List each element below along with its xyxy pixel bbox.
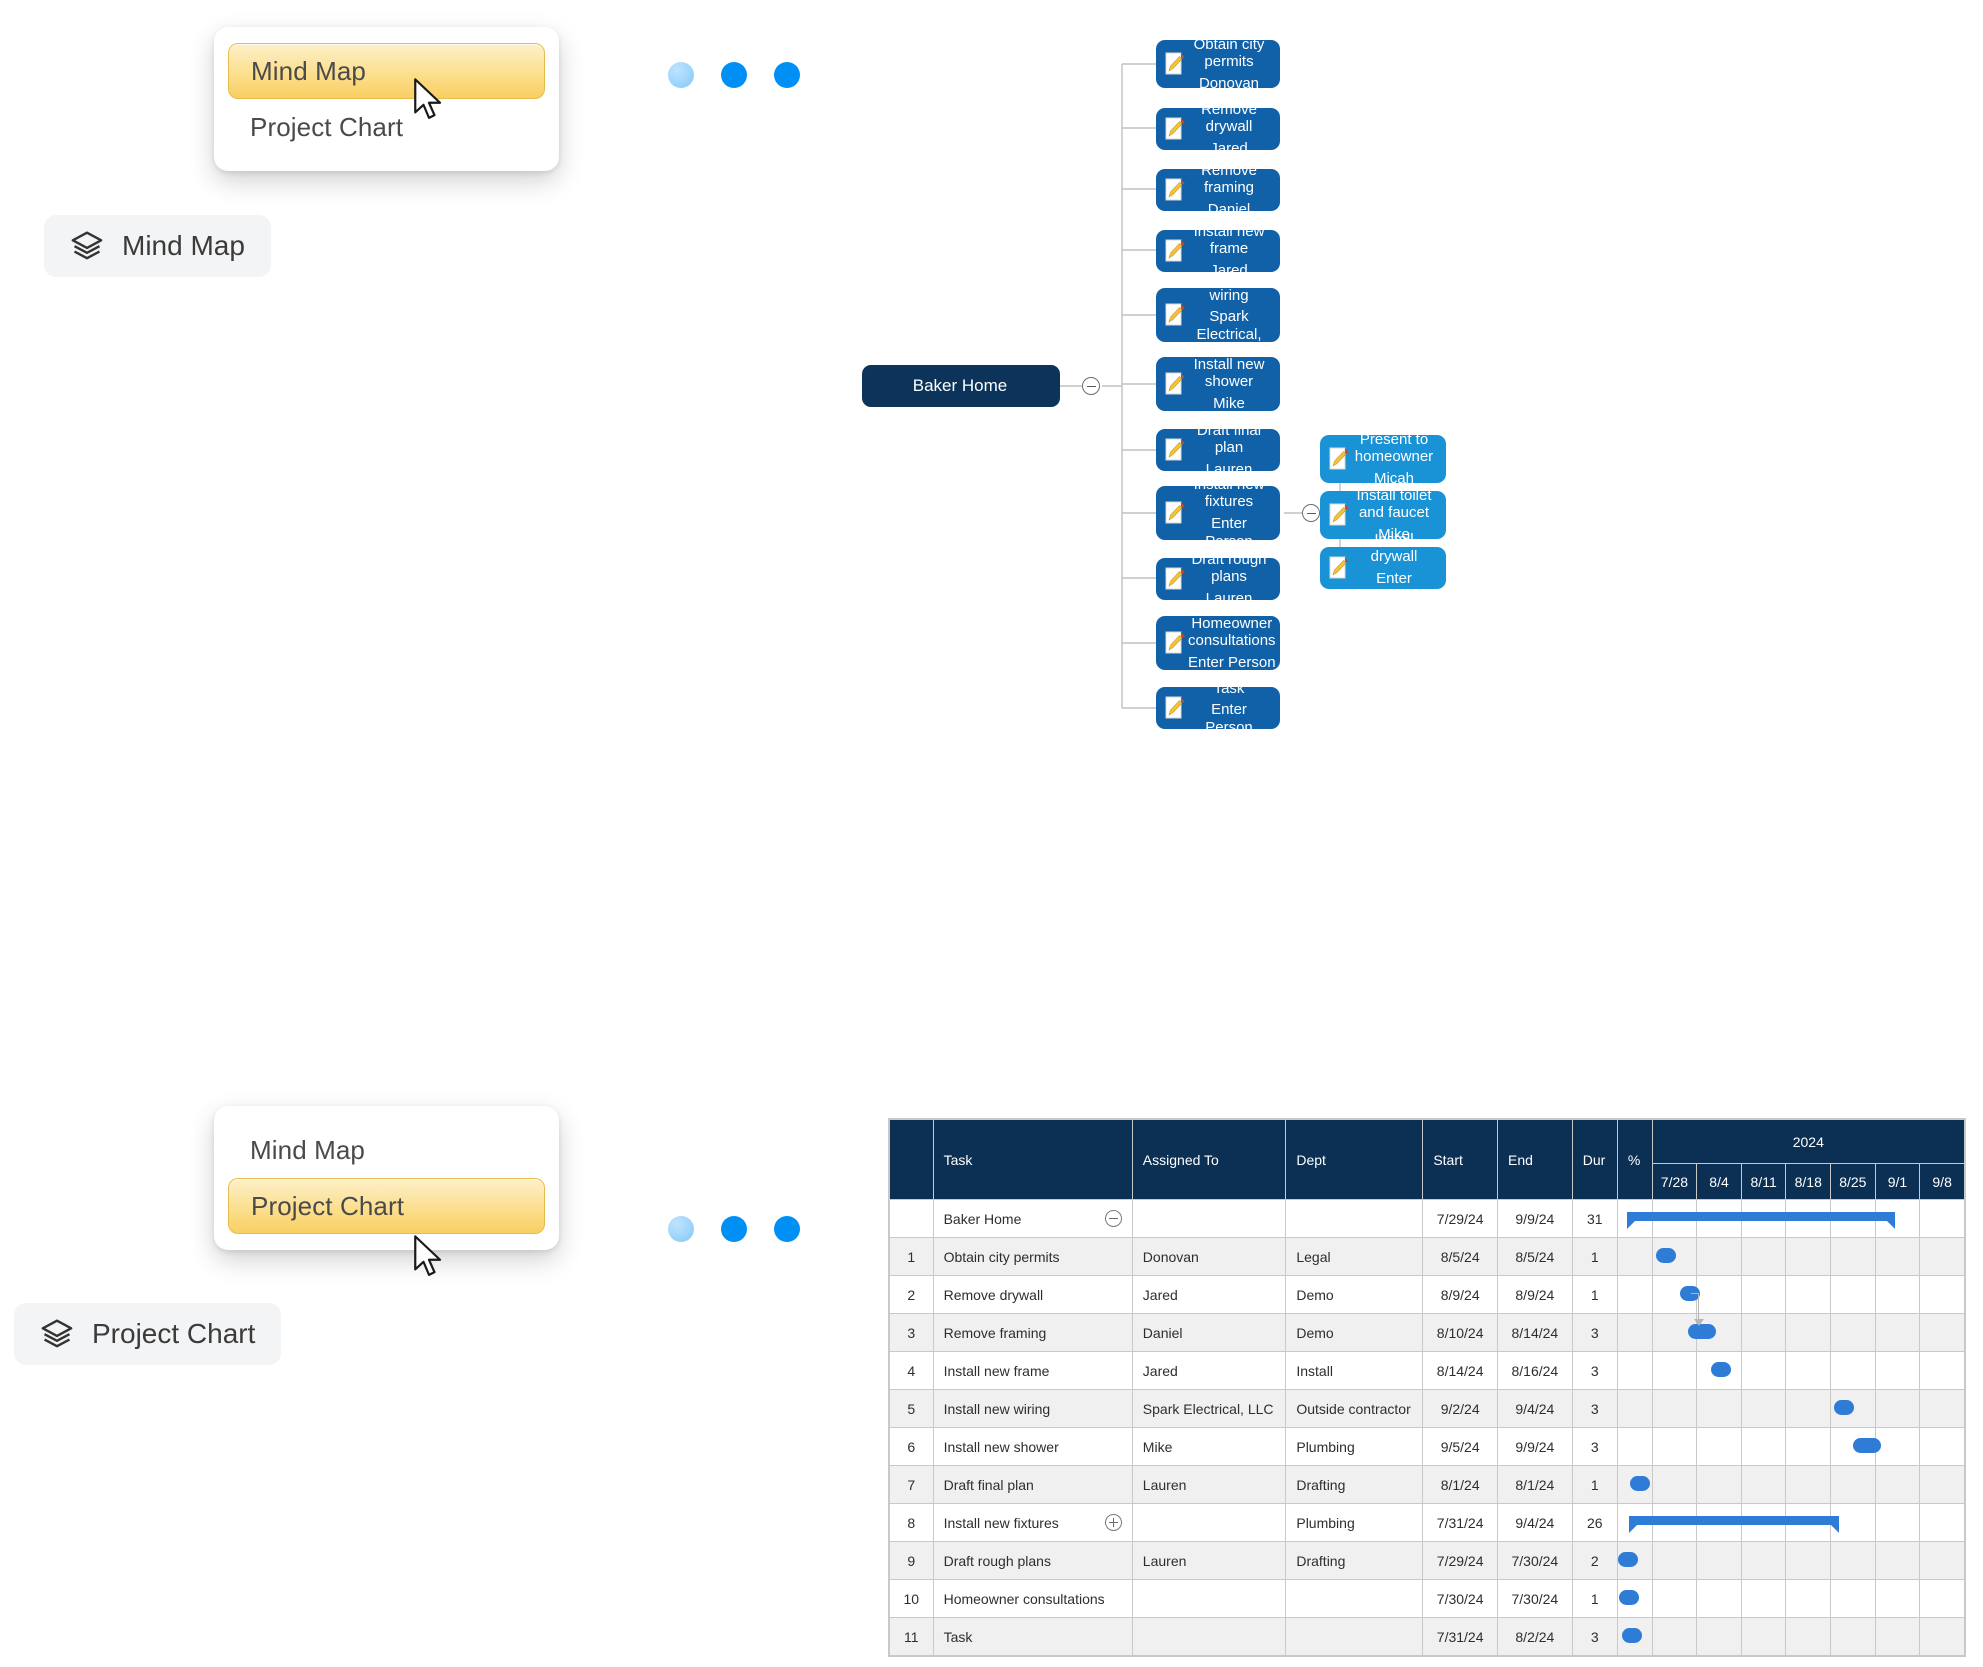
th-start[interactable]: Start — [1423, 1120, 1498, 1200]
cell-dur[interactable]: 3 — [1572, 1618, 1617, 1656]
task-label: Obtain city permits — [944, 1249, 1060, 1265]
cell-start[interactable]: 8/5/24 — [1423, 1238, 1498, 1276]
dropdown-option-project-chart[interactable]: Project Chart — [228, 99, 545, 155]
cell-task[interactable]: Install new shower — [933, 1428, 1132, 1466]
cell-start[interactable]: 9/5/24 — [1423, 1428, 1498, 1466]
note-pencil-icon — [1164, 631, 1186, 655]
dependency-line — [1698, 1293, 1699, 1321]
mindmap-node-person: Lauren — [1188, 590, 1270, 608]
cell-dept[interactable]: Install — [1286, 1352, 1423, 1390]
mindmap-node-title: Present to homeowner — [1352, 431, 1436, 466]
cell-dept[interactable]: Demo — [1286, 1314, 1423, 1352]
cell-end[interactable]: 9/9/24 — [1498, 1200, 1573, 1238]
cell-row-number: 11 — [890, 1618, 934, 1656]
th-assigned-to[interactable]: Assigned To — [1132, 1120, 1286, 1200]
cell-dept[interactable]: Drafting — [1286, 1542, 1423, 1580]
mindmap-node-title: Install new shower — [1188, 356, 1270, 391]
mindmap-node-homeowner-consultations[interactable]: Homeowner consultations Enter Person — [1156, 616, 1280, 670]
table-header-year-row: Task Assigned To Dept Start End Dur % 20… — [890, 1120, 1965, 1164]
mindmap-node-install-new-frame[interactable]: Install new frame Jared — [1156, 230, 1280, 272]
cell-assigned-to[interactable] — [1132, 1504, 1286, 1542]
mindmap-node-title: Install new wiring — [1188, 269, 1270, 304]
dropdown-option-mind-map[interactable]: Mind Map — [228, 1122, 545, 1178]
cell-dur[interactable]: 3 — [1572, 1428, 1617, 1466]
cell-task[interactable]: Baker Home — [933, 1200, 1132, 1238]
task-label: Install new fixtures — [944, 1515, 1059, 1531]
dot-1 — [668, 62, 694, 88]
note-pencil-icon — [1164, 438, 1186, 462]
cell-dur[interactable]: 1 — [1572, 1580, 1617, 1618]
gantt-task-bar[interactable] — [1619, 1590, 1639, 1605]
th-week-6: 9/8 — [1920, 1164, 1965, 1200]
cell-dept[interactable]: Demo — [1286, 1276, 1423, 1314]
mindmap-node-person: Enter Person — [1188, 654, 1276, 672]
cell-row-number: 3 — [890, 1314, 934, 1352]
mindmap-node-title: Install toilet and faucet — [1352, 487, 1436, 522]
th-week-3: 8/18 — [1786, 1164, 1831, 1200]
cell-start[interactable]: 8/9/24 — [1423, 1276, 1498, 1314]
task-label: Task — [944, 1629, 973, 1645]
mindmap-node-person: Mike — [1188, 395, 1270, 413]
task-label: Baker Home — [944, 1211, 1022, 1227]
cell-row-number: 5 — [890, 1390, 934, 1428]
mindmap-node-title: Remove framing — [1188, 162, 1270, 197]
cell-task[interactable]: Draft final plan — [933, 1466, 1132, 1504]
gantt-bars-layer — [1621, 1199, 1965, 1656]
cell-start[interactable]: 8/1/24 — [1423, 1466, 1498, 1504]
mindmap-node-obtain-city-permits[interactable]: Obtain city permits Donovan — [1156, 40, 1280, 88]
mouse-cursor-icon — [412, 78, 446, 122]
task-label: Draft final plan — [944, 1477, 1034, 1493]
cell-row-number: 9 — [890, 1542, 934, 1580]
cell-dur[interactable]: 1 — [1572, 1466, 1617, 1504]
th-week-4: 8/25 — [1831, 1164, 1876, 1200]
chart-type-dropdown-bottom[interactable]: Mind Map Project Chart — [214, 1106, 559, 1250]
cell-dur[interactable]: 1 — [1572, 1238, 1617, 1276]
task-label: Install new shower — [944, 1439, 1059, 1455]
mindmap-node-person: Enter Person — [1188, 701, 1270, 736]
cell-end[interactable]: 7/30/24 — [1498, 1542, 1573, 1580]
note-pencil-icon — [1164, 52, 1186, 76]
gantt-summary-bar[interactable] — [1629, 1516, 1840, 1525]
mindmap-node-title: Task — [1188, 680, 1270, 698]
mindmap-fixtures-collapse-toggle[interactable] — [1302, 504, 1320, 522]
cell-start[interactable]: 9/2/24 — [1423, 1390, 1498, 1428]
cell-task[interactable]: Draft rough plans — [933, 1542, 1132, 1580]
note-pencil-icon — [1328, 447, 1350, 471]
cell-start[interactable]: 8/10/24 — [1423, 1314, 1498, 1352]
mindmap-node-title: Draft rough plans — [1188, 551, 1270, 586]
cell-assigned-to[interactable]: Mike — [1132, 1428, 1286, 1466]
mindmap-node-draft-final-plan[interactable]: Draft final plan Lauren — [1156, 429, 1280, 471]
cell-end[interactable]: 9/4/24 — [1498, 1504, 1573, 1542]
cell-start[interactable]: 7/31/24 — [1423, 1618, 1498, 1656]
th-dept[interactable]: Dept — [1286, 1120, 1423, 1200]
mouse-cursor-icon — [412, 1235, 446, 1279]
mindmap-node-remove-drywall[interactable]: Remove drywall Jared — [1156, 108, 1280, 150]
cell-dept[interactable]: Plumbing — [1286, 1504, 1423, 1542]
cell-end[interactable]: 9/9/24 — [1498, 1428, 1573, 1466]
cell-row-number: 2 — [890, 1276, 934, 1314]
dropdown-option-label: Project Chart — [251, 1191, 404, 1222]
task-label: Remove framing — [944, 1325, 1047, 1341]
cell-row-number: 7 — [890, 1466, 934, 1504]
note-pencil-icon — [1164, 501, 1186, 525]
row-expand-toggle[interactable] — [1105, 1514, 1122, 1531]
cell-start[interactable]: 7/31/24 — [1423, 1504, 1498, 1542]
mindmap-root-label: Baker Home — [913, 376, 1007, 396]
note-pencil-icon — [1328, 503, 1350, 527]
th-week-2: 8/11 — [1741, 1164, 1786, 1200]
screenshot-canvas: Mind Map Project Chart Mind Map — [0, 0, 1983, 1667]
cell-assigned-to[interactable]: Spark Electrical, LLC — [1132, 1390, 1286, 1428]
th-task[interactable]: Task — [933, 1120, 1132, 1200]
cell-assigned-to[interactable]: Jared — [1132, 1352, 1286, 1390]
dot-2 — [721, 1216, 747, 1242]
mindmap-node-title: Homeowner consultations — [1188, 615, 1276, 650]
mindmap-node-present-to-homeowner[interactable]: Present to homeowner Micah — [1320, 435, 1446, 483]
cell-end[interactable]: 8/9/24 — [1498, 1276, 1573, 1314]
th-week-0: 7/28 — [1652, 1164, 1697, 1200]
cell-dur[interactable]: 2 — [1572, 1542, 1617, 1580]
cell-assigned-to[interactable] — [1132, 1618, 1286, 1656]
note-pencil-icon — [1164, 372, 1186, 396]
chip-project-chart[interactable]: Project Chart — [14, 1303, 281, 1365]
cell-end[interactable]: 8/2/24 — [1498, 1618, 1573, 1656]
mindmap-node-title: Install drywall — [1352, 531, 1436, 566]
cell-dept[interactable] — [1286, 1580, 1423, 1618]
chart-type-dropdown-top[interactable]: Mind Map Project Chart — [214, 27, 559, 171]
cell-dur[interactable]: 26 — [1572, 1504, 1617, 1542]
th-week-5: 9/1 — [1875, 1164, 1920, 1200]
dropdown-option-label: Project Chart — [250, 112, 403, 143]
row-collapse-toggle[interactable] — [1105, 1210, 1122, 1227]
cell-assigned-to[interactable] — [1132, 1200, 1286, 1238]
gantt-task-bar[interactable] — [1853, 1438, 1881, 1453]
mindmap-node-title: Install new frame — [1188, 223, 1270, 258]
cell-start[interactable]: 7/29/24 — [1423, 1542, 1498, 1580]
mindmap-node-install-new-shower[interactable]: Install new shower Mike — [1156, 357, 1280, 411]
th-year: 2024 — [1652, 1120, 1964, 1164]
cell-dur[interactable]: 3 — [1572, 1390, 1617, 1428]
dependency-line — [1691, 1293, 1698, 1294]
chip-mind-map[interactable]: Mind Map — [44, 215, 271, 277]
mindmap-node-remove-framing[interactable]: Remove framing Daniel — [1156, 169, 1280, 211]
gantt-task-bar[interactable] — [1688, 1324, 1717, 1339]
loading-dots-bottom — [668, 1216, 800, 1242]
cell-task[interactable]: Obtain city permits — [933, 1238, 1132, 1276]
task-label: Homeowner consultations — [944, 1591, 1105, 1607]
mindmap-node-person: Jared — [1188, 140, 1270, 158]
dependency-arrow-icon — [1694, 1319, 1704, 1326]
th-rownum — [890, 1120, 934, 1200]
cell-end[interactable]: 9/4/24 — [1498, 1390, 1573, 1428]
mindmap-node-title: Install new fixtures — [1188, 476, 1270, 511]
cell-row-number: 8 — [890, 1504, 934, 1542]
cell-start[interactable]: 7/30/24 — [1423, 1580, 1498, 1618]
mindmap-node-install-new-wiring[interactable]: Install new wiring Spark Electrical, LLC — [1156, 288, 1280, 342]
cell-task[interactable]: Remove drywall — [933, 1276, 1132, 1314]
cell-dur[interactable]: 1 — [1572, 1276, 1617, 1314]
gantt-summary-bar[interactable] — [1627, 1212, 1895, 1221]
dropdown-option-mind-map[interactable]: Mind Map — [228, 43, 545, 99]
mindmap-node-person: Enter Person — [1188, 515, 1270, 550]
note-pencil-icon — [1164, 117, 1186, 141]
th-end[interactable]: End — [1498, 1120, 1573, 1200]
th-dur[interactable]: Dur — [1572, 1120, 1617, 1200]
dot-1 — [668, 1216, 694, 1242]
note-pencil-icon — [1164, 178, 1186, 202]
gantt-task-bar[interactable] — [1622, 1628, 1642, 1643]
mindmap-node-person: Enter Person — [1352, 570, 1436, 605]
cell-dur[interactable]: 3 — [1572, 1352, 1617, 1390]
cell-task[interactable]: Install new fixtures — [933, 1504, 1132, 1542]
cell-end[interactable]: 7/30/24 — [1498, 1580, 1573, 1618]
cell-assigned-to[interactable] — [1132, 1580, 1286, 1618]
mindmap-node-install-drywall[interactable]: Install drywall Enter Person — [1320, 547, 1446, 589]
note-pencil-icon — [1164, 239, 1186, 263]
layers-icon — [40, 1317, 74, 1351]
gantt-task-bar[interactable] — [1711, 1362, 1731, 1377]
cell-end[interactable]: 8/16/24 — [1498, 1352, 1573, 1390]
th-week-1: 8/4 — [1697, 1164, 1742, 1200]
cell-assigned-to[interactable]: Lauren — [1132, 1466, 1286, 1504]
note-pencil-icon — [1164, 696, 1186, 720]
cell-dur[interactable]: 31 — [1572, 1200, 1617, 1238]
cell-row-number: 4 — [890, 1352, 934, 1390]
task-label: Draft rough plans — [944, 1553, 1051, 1569]
mindmap-node-title: Obtain city permits — [1188, 36, 1270, 71]
layers-icon — [70, 229, 104, 263]
cell-row-number — [890, 1200, 934, 1238]
cell-assigned-to[interactable]: Daniel — [1132, 1314, 1286, 1352]
cell-end[interactable]: 8/5/24 — [1498, 1238, 1573, 1276]
cell-start[interactable]: 8/14/24 — [1423, 1352, 1498, 1390]
chip-label: Mind Map — [122, 230, 245, 262]
cell-assigned-to[interactable]: Lauren — [1132, 1542, 1286, 1580]
cell-end[interactable]: 8/14/24 — [1498, 1314, 1573, 1352]
cell-dur[interactable]: 3 — [1572, 1314, 1617, 1352]
dot-2 — [721, 62, 747, 88]
cell-dept[interactable] — [1286, 1200, 1423, 1238]
mindmap-node-task[interactable]: Task Enter Person — [1156, 687, 1280, 729]
mindmap-node-title: Draft final plan — [1188, 422, 1270, 457]
note-pencil-icon — [1328, 556, 1350, 580]
note-pencil-icon — [1164, 303, 1186, 327]
cell-task[interactable]: Install new frame — [933, 1352, 1132, 1390]
mindmap-root-node[interactable]: Baker Home — [862, 365, 1060, 407]
cell-dept[interactable]: Plumbing — [1286, 1428, 1423, 1466]
dropdown-option-label: Mind Map — [251, 56, 366, 87]
cell-task[interactable]: Homeowner consultations — [933, 1580, 1132, 1618]
dropdown-option-label: Mind Map — [250, 1135, 365, 1166]
chip-label: Project Chart — [92, 1318, 255, 1350]
dropdown-option-project-chart[interactable]: Project Chart — [228, 1178, 545, 1234]
cell-dept[interactable] — [1286, 1618, 1423, 1656]
cell-row-number: 6 — [890, 1428, 934, 1466]
mindmap-root-collapse-toggle[interactable] — [1082, 377, 1100, 395]
cell-task[interactable]: Install new wiring — [933, 1390, 1132, 1428]
mindmap-node-person: Donovan — [1188, 75, 1270, 93]
dot-3 — [774, 62, 800, 88]
cell-assigned-to[interactable]: Jared — [1132, 1276, 1286, 1314]
mind-map-canvas: Baker Home Obtain city permits Donovan R… — [900, 20, 1640, 760]
cell-dept[interactable]: Drafting — [1286, 1466, 1423, 1504]
mindmap-node-person: Micah — [1352, 470, 1436, 488]
gantt-task-bar[interactable] — [1630, 1476, 1650, 1491]
mindmap-node-draft-rough-plans[interactable]: Draft rough plans Lauren — [1156, 558, 1280, 600]
cell-row-number: 1 — [890, 1238, 934, 1276]
mindmap-node-title: Remove drywall — [1188, 101, 1270, 136]
dot-3 — [774, 1216, 800, 1242]
th-percent[interactable]: % — [1617, 1120, 1652, 1200]
task-label: Install new frame — [944, 1363, 1050, 1379]
loading-dots-top — [668, 62, 800, 88]
gantt-task-bar[interactable] — [1656, 1248, 1676, 1263]
task-label: Install new wiring — [944, 1401, 1051, 1417]
cell-task[interactable]: Task — [933, 1618, 1132, 1656]
cell-assigned-to[interactable]: Donovan — [1132, 1238, 1286, 1276]
task-label: Remove drywall — [944, 1287, 1044, 1303]
cell-row-number: 10 — [890, 1580, 934, 1618]
project-chart-table[interactable]: Task Assigned To Dept Start End Dur % 20… — [888, 1118, 1966, 1657]
cell-dept[interactable]: Legal — [1286, 1238, 1423, 1276]
cell-task[interactable]: Remove framing — [933, 1314, 1132, 1352]
mindmap-node-install-new-fixtures[interactable]: Install new fixtures Enter Person — [1156, 486, 1280, 540]
mindmap-node-person: Daniel — [1188, 201, 1270, 219]
cell-start[interactable]: 7/29/24 — [1423, 1200, 1498, 1238]
mindmap-node-person: Spark Electrical, LLC — [1188, 308, 1270, 361]
note-pencil-icon — [1164, 567, 1186, 591]
cell-end[interactable]: 8/1/24 — [1498, 1466, 1573, 1504]
gantt-task-bar[interactable] — [1834, 1400, 1854, 1415]
gantt-task-bar[interactable] — [1618, 1552, 1638, 1567]
cell-dept[interactable]: Outside contractor — [1286, 1390, 1423, 1428]
